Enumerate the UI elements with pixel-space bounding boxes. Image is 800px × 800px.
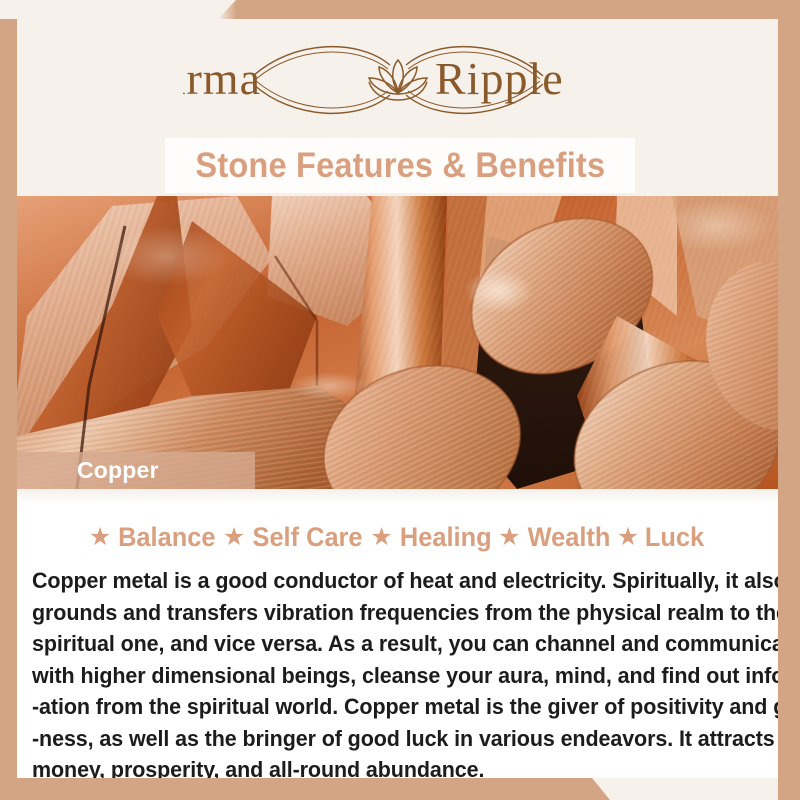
feature-label-luck: Luck bbox=[645, 522, 704, 553]
description-line: spiritual one, and vice versa. As a resu… bbox=[32, 628, 748, 660]
card-body: Karma Ripple bbox=[17, 19, 778, 778]
description-line: with higher dimensional beings, cleanse … bbox=[32, 660, 748, 692]
logo-swoosh-lower-left-2 bbox=[256, 81, 388, 108]
brand-logo-svg: Karma Ripple bbox=[183, 32, 613, 128]
star-icon: ★ bbox=[498, 525, 520, 550]
feature-label-wealth: Wealth bbox=[527, 522, 610, 553]
star-icon: ★ bbox=[89, 525, 111, 550]
lotus-flower-icon bbox=[369, 60, 427, 100]
hero-image: Copper bbox=[17, 196, 778, 489]
description-line: -ation from the spiritual world. Copper … bbox=[32, 691, 748, 723]
logo-swoosh-upper-left bbox=[253, 46, 390, 75]
brand-word-left: Karma bbox=[183, 53, 261, 104]
star-icon: ★ bbox=[370, 525, 392, 550]
frame-top-bar bbox=[0, 0, 800, 19]
logo-swoosh-lower-left bbox=[253, 84, 390, 113]
frame-bottom-bar bbox=[0, 778, 800, 800]
star-icon: ★ bbox=[617, 525, 639, 550]
frame-left-bar bbox=[0, 19, 17, 778]
logo-swoosh-upper-left-2 bbox=[256, 52, 388, 79]
copper-bars-photo bbox=[17, 196, 778, 489]
description-line: money, prosperity, and all-round abundan… bbox=[32, 754, 748, 778]
description-line: -ness, as well as the bringer of good lu… bbox=[32, 723, 748, 755]
product-infographic-card: Karma Ripple bbox=[0, 0, 800, 800]
brand-logo: Karma Ripple bbox=[17, 19, 778, 140]
page-title: Stone Features & Benefits bbox=[195, 146, 605, 186]
description-text: Copper metal is a good conductor of heat… bbox=[32, 565, 778, 778]
feature-label-balance: Balance bbox=[118, 522, 215, 553]
star-icon: ★ bbox=[223, 525, 245, 550]
frame-right-bar bbox=[778, 0, 800, 800]
hero-caption-band: Copper bbox=[17, 452, 255, 489]
content-panel: ★Balance★Self Care★Healing★Wealth★Luck C… bbox=[17, 489, 778, 778]
section-title-band: Stone Features & Benefits bbox=[165, 138, 635, 193]
hero-caption-label: Copper bbox=[77, 457, 159, 484]
description-line: grounds and transfers vibration frequenc… bbox=[32, 597, 748, 629]
feature-label-healing: Healing bbox=[400, 522, 492, 553]
feature-list: ★Balance★Self Care★Healing★Wealth★Luck bbox=[17, 522, 778, 553]
feature-label-self-care: Self Care bbox=[253, 522, 363, 553]
brand-word-right: Ripple bbox=[435, 53, 564, 104]
description-line: Copper metal is a good conductor of heat… bbox=[32, 565, 748, 597]
content-top-fade bbox=[17, 489, 778, 503]
